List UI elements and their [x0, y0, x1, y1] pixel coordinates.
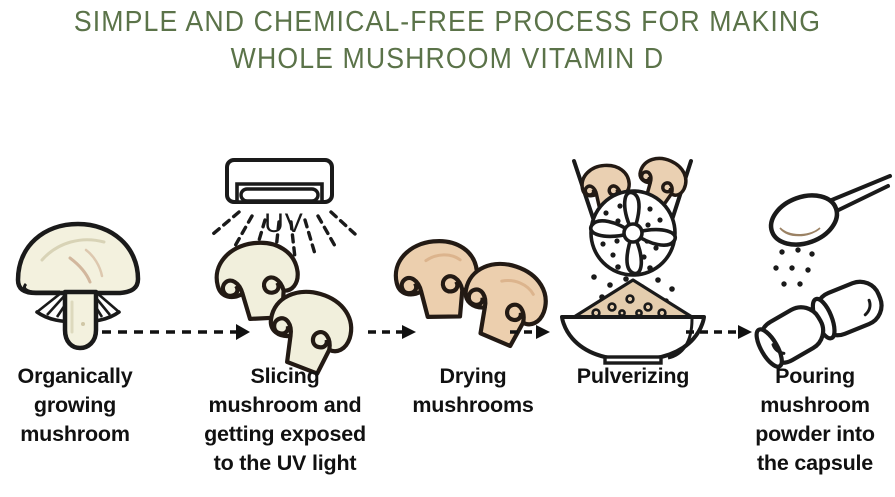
caption-step-5-line-3: powder into: [735, 420, 895, 449]
caption-step-5: Pouring mushroom powder into the capsule: [735, 362, 895, 478]
caption-step-4: Pulverizing: [553, 362, 713, 391]
caption-step-5-line-1: Pouring: [735, 362, 895, 391]
caption-step-1-line-2: growing: [0, 391, 150, 420]
caption-step-1-line-3: mushroom: [0, 420, 150, 449]
caption-step-1-line-1: Organically: [0, 362, 150, 391]
arrow-step1-to-step2: [100, 320, 260, 344]
page-title: SIMPLE AND CHEMICAL-FREE PROCESS FOR MAK…: [36, 4, 859, 78]
process-captions: Organically growing mushroom Slicing mus…: [0, 362, 895, 497]
step-5-illustration: [750, 110, 895, 360]
caption-step-2-line-3: getting exposed: [170, 420, 400, 449]
grinder-blade-icon: [591, 191, 675, 275]
caption-step-3-line-2: mushrooms: [398, 391, 548, 420]
caption-step-2: Slicing mushroom and getting exposed to …: [170, 362, 400, 478]
spoon-powder-specks: [773, 247, 814, 286]
caption-step-3-line-1: Drying: [398, 362, 548, 391]
caption-step-2-line-2: mushroom and: [170, 391, 400, 420]
caption-step-2-line-1: Slicing: [170, 362, 400, 391]
caption-step-3: Drying mushrooms: [398, 362, 548, 420]
process-illustrations: UV: [0, 110, 895, 360]
caption-step-2-line-4: to the UV light: [170, 449, 400, 478]
uv-label: UV: [264, 208, 304, 238]
caption-step-5-line-4: the capsule: [735, 449, 895, 478]
spoon-and-capsule-icon: [750, 180, 895, 360]
caption-step-1: Organically growing mushroom: [0, 362, 150, 449]
title-line-2: WHOLE MUSHROOM VITAMIN D: [36, 41, 859, 78]
caption-step-5-line-2: mushroom: [735, 391, 895, 420]
arrow-step4-to-step5: [684, 320, 764, 344]
arrow-step3-to-step4: [508, 320, 560, 344]
caption-step-4-line-1: Pulverizing: [553, 362, 713, 391]
arrow-step2-to-step3: [366, 320, 426, 344]
title-line-1: SIMPLE AND CHEMICAL-FREE PROCESS FOR MAK…: [36, 4, 859, 41]
